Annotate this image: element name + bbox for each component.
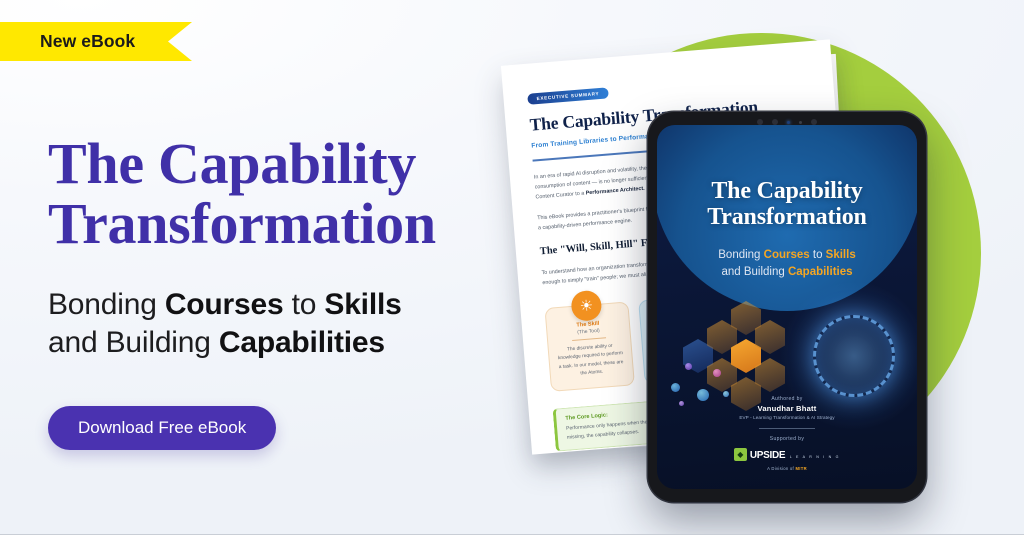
subhead-bold-skills: Skills	[324, 288, 401, 321]
page-title: The Capability Transformation	[48, 134, 518, 255]
supported-label: Supported by	[657, 436, 917, 442]
cover-sub-p1: Bonding	[718, 249, 763, 261]
authored-label: Authored by	[657, 396, 917, 402]
cover-title-line1: The Capability	[711, 178, 862, 204]
cover-title: The Capability Transformation	[657, 179, 917, 231]
cover-credits: Authored by Vanudhar Bhatt EVP - Learnin…	[657, 396, 917, 471]
logo-name: UPSIDE	[750, 450, 785, 461]
page-subtitle: Bonding Courses to Skills and Building C…	[48, 286, 518, 363]
card-skill-rule	[572, 337, 606, 341]
cover-sub-b2: Skills	[826, 249, 856, 261]
logo-division: A Division of MITR	[657, 466, 917, 471]
bubble-icon	[713, 369, 721, 377]
download-free-ebook-button[interactable]: Download Free eBook	[48, 406, 276, 450]
logo-division-b: MITR	[795, 466, 806, 471]
subhead-bold-capabilities: Capabilities	[219, 326, 385, 359]
headline-line-2: Transformation	[48, 194, 518, 254]
subhead-part-2: to	[284, 288, 325, 321]
gear-icon	[813, 315, 895, 397]
lightbulb-icon: ☀	[570, 290, 602, 322]
headline-line-1: The Capability	[48, 131, 416, 196]
logo-mark-icon: ◆	[734, 448, 747, 461]
bubble-icon	[671, 383, 680, 392]
card-skill-body: The discrete ability or knowledge requir…	[556, 342, 626, 381]
cover-sub-b1: Courses	[764, 249, 810, 261]
author-name: Vanudhar Bhatt	[657, 404, 917, 413]
cover-sub-b3: Capabilities	[788, 266, 853, 278]
tablet-screen: The Capability Transformation Bonding Co…	[657, 125, 917, 489]
subhead-part-3: and Building	[48, 326, 219, 359]
cover-subtitle: Bonding Courses to Skills and Building C…	[657, 247, 917, 280]
camera-flash-icon	[787, 121, 790, 124]
camera-sensor-icon	[799, 121, 802, 124]
logo-subtitle: L E A R N I N G	[790, 455, 840, 459]
credits-divider	[759, 428, 815, 429]
cover-title-line2: Transformation	[707, 204, 866, 230]
author-role: EVP - Learning Transformation & AI Strat…	[657, 415, 917, 420]
subhead-part-1: Bonding	[48, 288, 165, 321]
upside-learning-logo: ◆ UPSIDE L E A R N I N G	[657, 445, 917, 463]
ebook-promo-banner: EXECUTIVE SUMMARY The Capability Transfo…	[0, 0, 1024, 535]
logo-text: UPSIDE L E A R N I N G	[750, 445, 840, 463]
cover-sub-p2: to	[810, 249, 826, 261]
bubble-icon	[685, 363, 692, 370]
new-ebook-ribbon: New eBook	[0, 22, 192, 61]
subhead-bold-courses: Courses	[165, 288, 284, 321]
tablet-device: The Capability Transformation Bonding Co…	[648, 112, 926, 502]
doc-p1-bold: Performance Architect.	[586, 186, 645, 197]
cover-sub-p3: and Building	[721, 266, 788, 278]
document-badge: EXECUTIVE SUMMARY	[527, 87, 608, 104]
logo-division-a: A Division of	[767, 466, 795, 471]
framework-card-skill: ☀ The Skill (The Tool) The discrete abil…	[544, 301, 634, 391]
ribbon-label: New eBook	[40, 31, 135, 52]
